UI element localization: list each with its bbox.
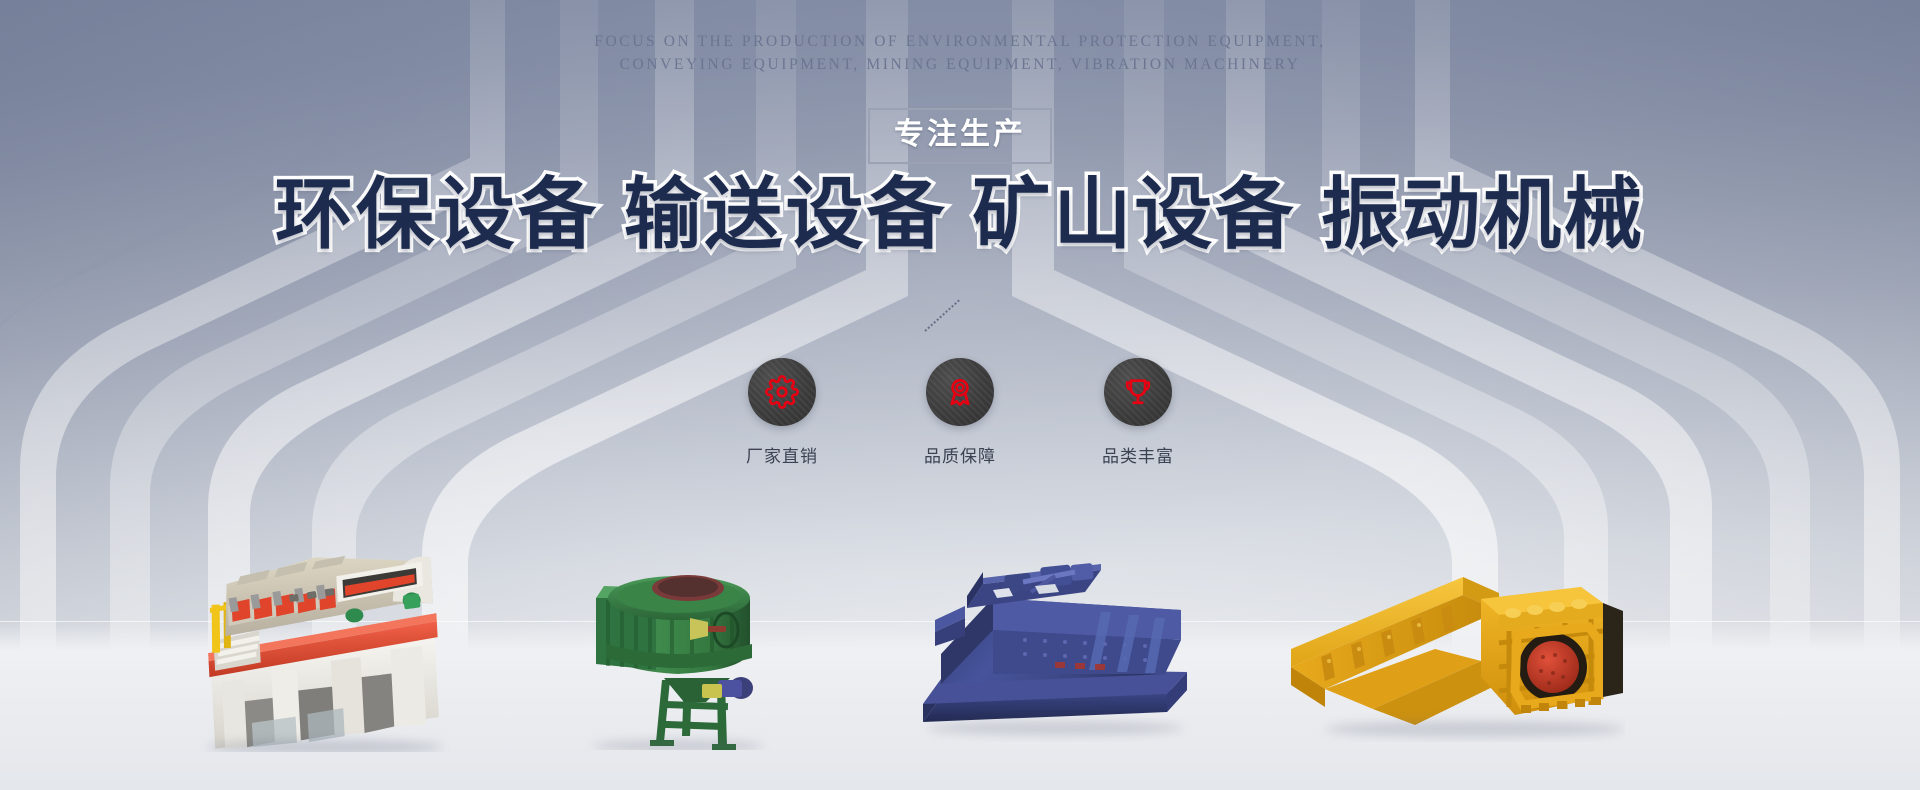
product-image-disc-feeder xyxy=(578,560,778,750)
feature-item: 品质保障 xyxy=(900,358,1020,467)
feature-item: 厂家直销 xyxy=(722,358,842,467)
feature-icon-badge xyxy=(926,358,994,426)
page-title: 环保设备 输送设备 矿山设备 振动机械 xyxy=(0,168,1920,260)
focus-badge: 专注生产 xyxy=(868,108,1052,164)
product-image-screening-plant xyxy=(200,547,450,752)
focus-badge-label: 专注生产 xyxy=(894,118,1026,152)
product-showcase xyxy=(0,460,1920,790)
product-image-yellow-feeder xyxy=(1285,557,1625,742)
feature-icon-badge xyxy=(1104,358,1172,426)
tagline-english: FOCUS ON THE PRODUCTION OF ENVIRONMENTAL… xyxy=(0,30,1920,76)
product-image-vibrating-screen xyxy=(905,562,1195,742)
gear-icon xyxy=(765,375,799,409)
trophy-icon xyxy=(1121,375,1155,409)
feature-list: 厂家直销 品质保障 品类丰富 xyxy=(0,358,1920,467)
medal-icon xyxy=(943,375,977,409)
feature-item: 品类丰富 xyxy=(1078,358,1198,467)
feature-icon-badge xyxy=(748,358,816,426)
diagonal-accent-icon xyxy=(925,300,977,334)
hero-banner: FOCUS ON THE PRODUCTION OF ENVIRONMENTAL… xyxy=(0,0,1920,790)
